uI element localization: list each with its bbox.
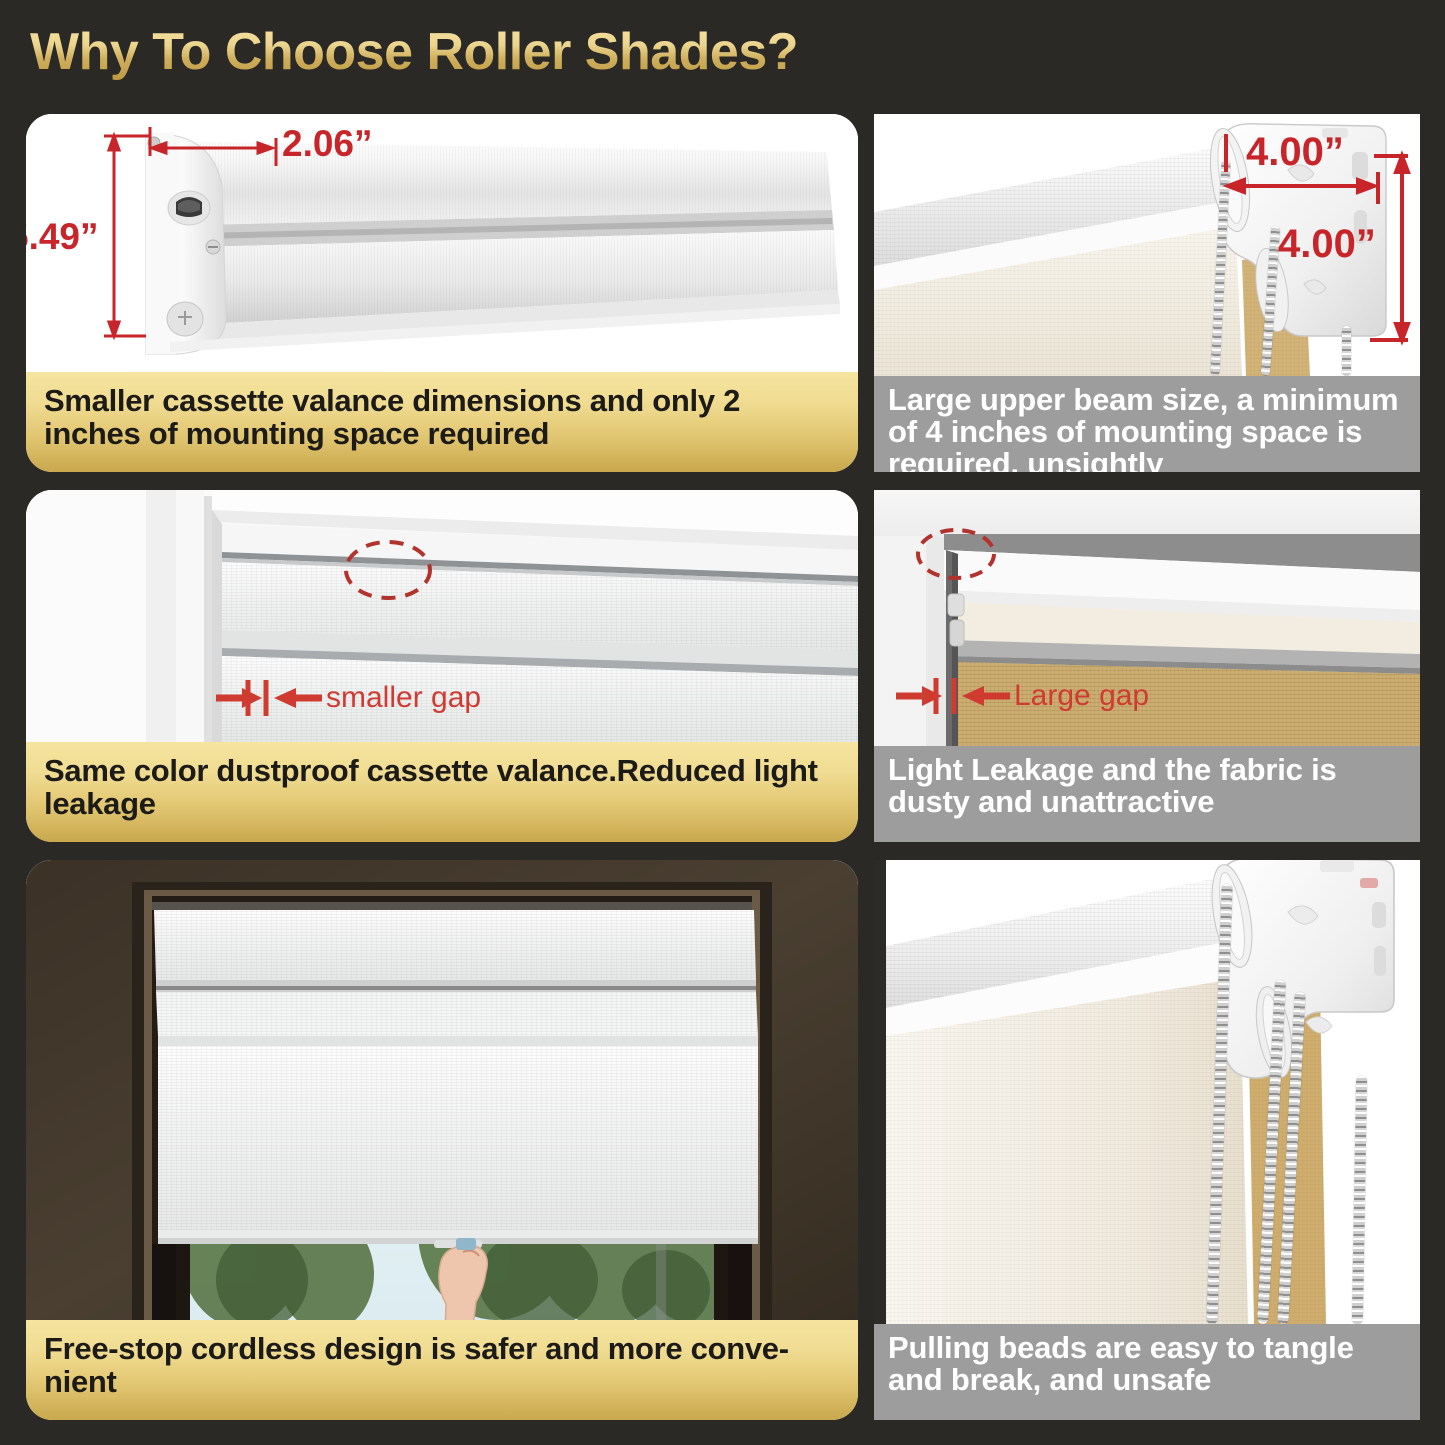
dimension-label-height-top-right: 4.00” — [1278, 222, 1376, 267]
caption-mid-right: Light Leakage and the fabric is dusty an… — [874, 746, 1420, 842]
panel-top-right: 4.00” 4.00” Large upper beam size, a min… — [874, 114, 1420, 472]
gap-label-mid-left: smaller gap — [326, 681, 481, 715]
bead-chain-roller-illustration — [874, 860, 1420, 1324]
panel-bottom-left-photo — [26, 860, 858, 1320]
room-window-cordless-shade-illustration — [26, 860, 858, 1320]
panel-bottom-right: Pulling beads are easy to tangle and bre… — [874, 860, 1420, 1420]
panel-top-right-photo: 4.00” 4.00” — [874, 114, 1420, 376]
dimension-annotations-top-left — [26, 114, 858, 372]
panel-top-left-photo: 2.06” 5.49” — [26, 114, 858, 372]
caption-bottom-left: Free-stop cordless design is safer and m… — [26, 1320, 858, 1420]
caption-top-right: Large upper beam size, a minimum of 4 in… — [874, 376, 1420, 472]
page-title: Why To Choose Roller Shades? — [30, 22, 798, 82]
dimension-label-width-top-left: 2.06” — [282, 123, 373, 165]
caption-top-left: Smaller cassette valance dimensions and … — [26, 372, 858, 472]
panel-mid-left-photo: smaller gap — [26, 490, 858, 742]
caption-mid-left: Same color dustproof cassette valance.Re… — [26, 742, 858, 842]
gap-label-mid-right: Large gap — [1014, 679, 1149, 713]
caption-mid-left-text: Same color dustproof cassette valance.Re… — [44, 754, 840, 821]
caption-bottom-right-text: Pulling beads are easy to tangle and bre… — [888, 1332, 1406, 1396]
infographic-root: Why To Choose Roller Shades? — [0, 0, 1445, 1445]
caption-bottom-right: Pulling beads are easy to tangle and bre… — [874, 1324, 1420, 1420]
panel-mid-right-photo: Large gap — [874, 490, 1420, 746]
panel-bottom-left: Free-stop cordless design is safer and m… — [26, 860, 858, 1420]
caption-top-left-text: Smaller cassette valance dimensions and … — [44, 384, 840, 451]
caption-mid-right-text: Light Leakage and the fabric is dusty an… — [888, 754, 1406, 818]
panel-top-left: 2.06” 5.49” Smaller cassette valance dim… — [26, 114, 858, 472]
panel-mid-right: Large gap Light Leakage and the fabric i… — [874, 490, 1420, 842]
dimension-label-height-top-left: 5.49” — [26, 216, 99, 258]
panel-mid-left: smaller gap Same color dustproof cassett… — [26, 490, 858, 842]
panel-bottom-right-photo — [874, 860, 1420, 1324]
caption-top-right-text: Large upper beam size, a minimum of 4 in… — [888, 384, 1406, 472]
caption-bottom-left-text: Free-stop cordless design is safer and m… — [44, 1332, 840, 1399]
dimension-label-width-top-right: 4.00” — [1246, 130, 1344, 175]
